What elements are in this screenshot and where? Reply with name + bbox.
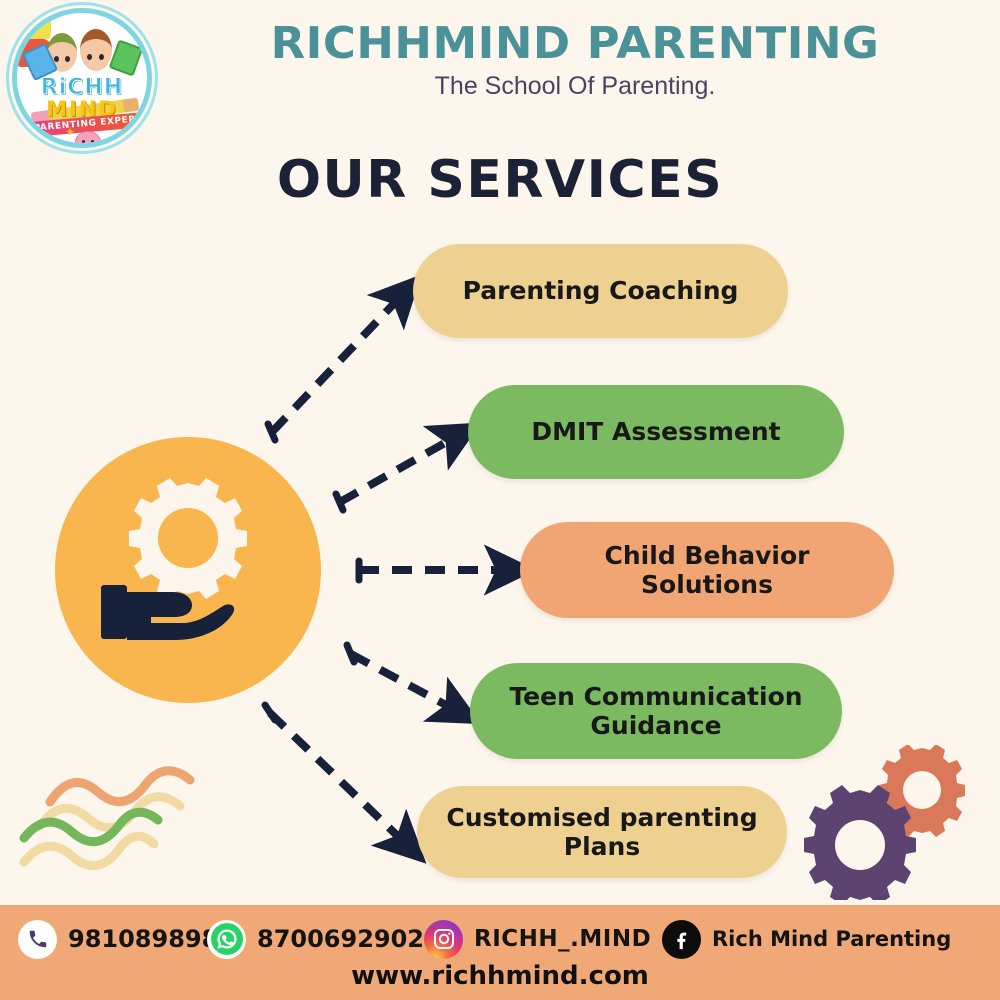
logo-child-a-body (17, 13, 51, 39)
footer-contacts-row: 9810898983 8700692902 (0, 917, 1000, 961)
service-label-1: Parenting Coaching (463, 276, 739, 306)
arrow-5 (265, 705, 408, 846)
arrow-3 (359, 561, 511, 580)
brand-logo: RiCHH MIND PARENTING EXPERT ✦ (8, 4, 156, 152)
brand-tagline: The School Of Parenting. (170, 72, 980, 101)
website-url[interactable]: www.richhmind.com (0, 961, 1000, 991)
logo-child-b-head (80, 29, 112, 71)
brand-title: RICHHMIND PARENTING (162, 18, 988, 69)
page-title: OUR SERVICES (0, 150, 1000, 210)
contact-phone[interactable]: 9810898983 (18, 920, 235, 959)
arrow-4 (347, 645, 459, 712)
arrow-2 (336, 435, 459, 510)
contact-instagram[interactable]: RICHH_.MIND (424, 920, 651, 959)
instagram-handle: RICHH_.MIND (474, 926, 651, 952)
arrow-1 (268, 293, 404, 440)
facebook-page-name: Rich Mind Parenting (712, 927, 951, 951)
service-pill-3[interactable]: Child Behavior Solutions (520, 522, 894, 618)
whatsapp-number: 8700692902 (257, 925, 424, 953)
logo-sparkle-icon: ✦ (65, 125, 75, 139)
service-pill-2[interactable]: DMIT Assessment (468, 385, 844, 479)
poster-canvas: RiCHH MIND PARENTING EXPERT ✦ RICHHMIND … (0, 0, 1000, 1000)
logo-book-green-icon (109, 39, 144, 76)
phone-icon (18, 920, 57, 959)
instagram-icon (424, 920, 463, 959)
whatsapp-icon (207, 920, 246, 959)
footer-contact-bar: 9810898983 8700692902 (0, 905, 1000, 1000)
service-label-4: Teen Communication Guidance (488, 682, 824, 741)
service-pill-1[interactable]: Parenting Coaching (413, 244, 788, 338)
service-label-3: Child Behavior Solutions (538, 541, 876, 600)
logo-brain-icon (75, 131, 101, 148)
gear-icon (129, 478, 247, 599)
service-label-2: DMIT Assessment (531, 417, 780, 447)
service-label-5: Customised parenting Plans (435, 803, 769, 862)
service-pill-5[interactable]: Customised parenting Plans (417, 786, 787, 878)
gears-decoration (800, 745, 1000, 900)
contact-facebook[interactable]: Rich Mind Parenting (662, 920, 951, 959)
services-hub-icon (55, 437, 321, 703)
facebook-icon (662, 920, 701, 959)
contact-whatsapp[interactable]: 8700692902 (207, 920, 424, 959)
logo-ring: RiCHH MIND PARENTING EXPERT ✦ (12, 8, 152, 148)
service-pill-4[interactable]: Teen Communication Guidance (470, 663, 842, 759)
squiggle-decoration (18, 760, 228, 880)
